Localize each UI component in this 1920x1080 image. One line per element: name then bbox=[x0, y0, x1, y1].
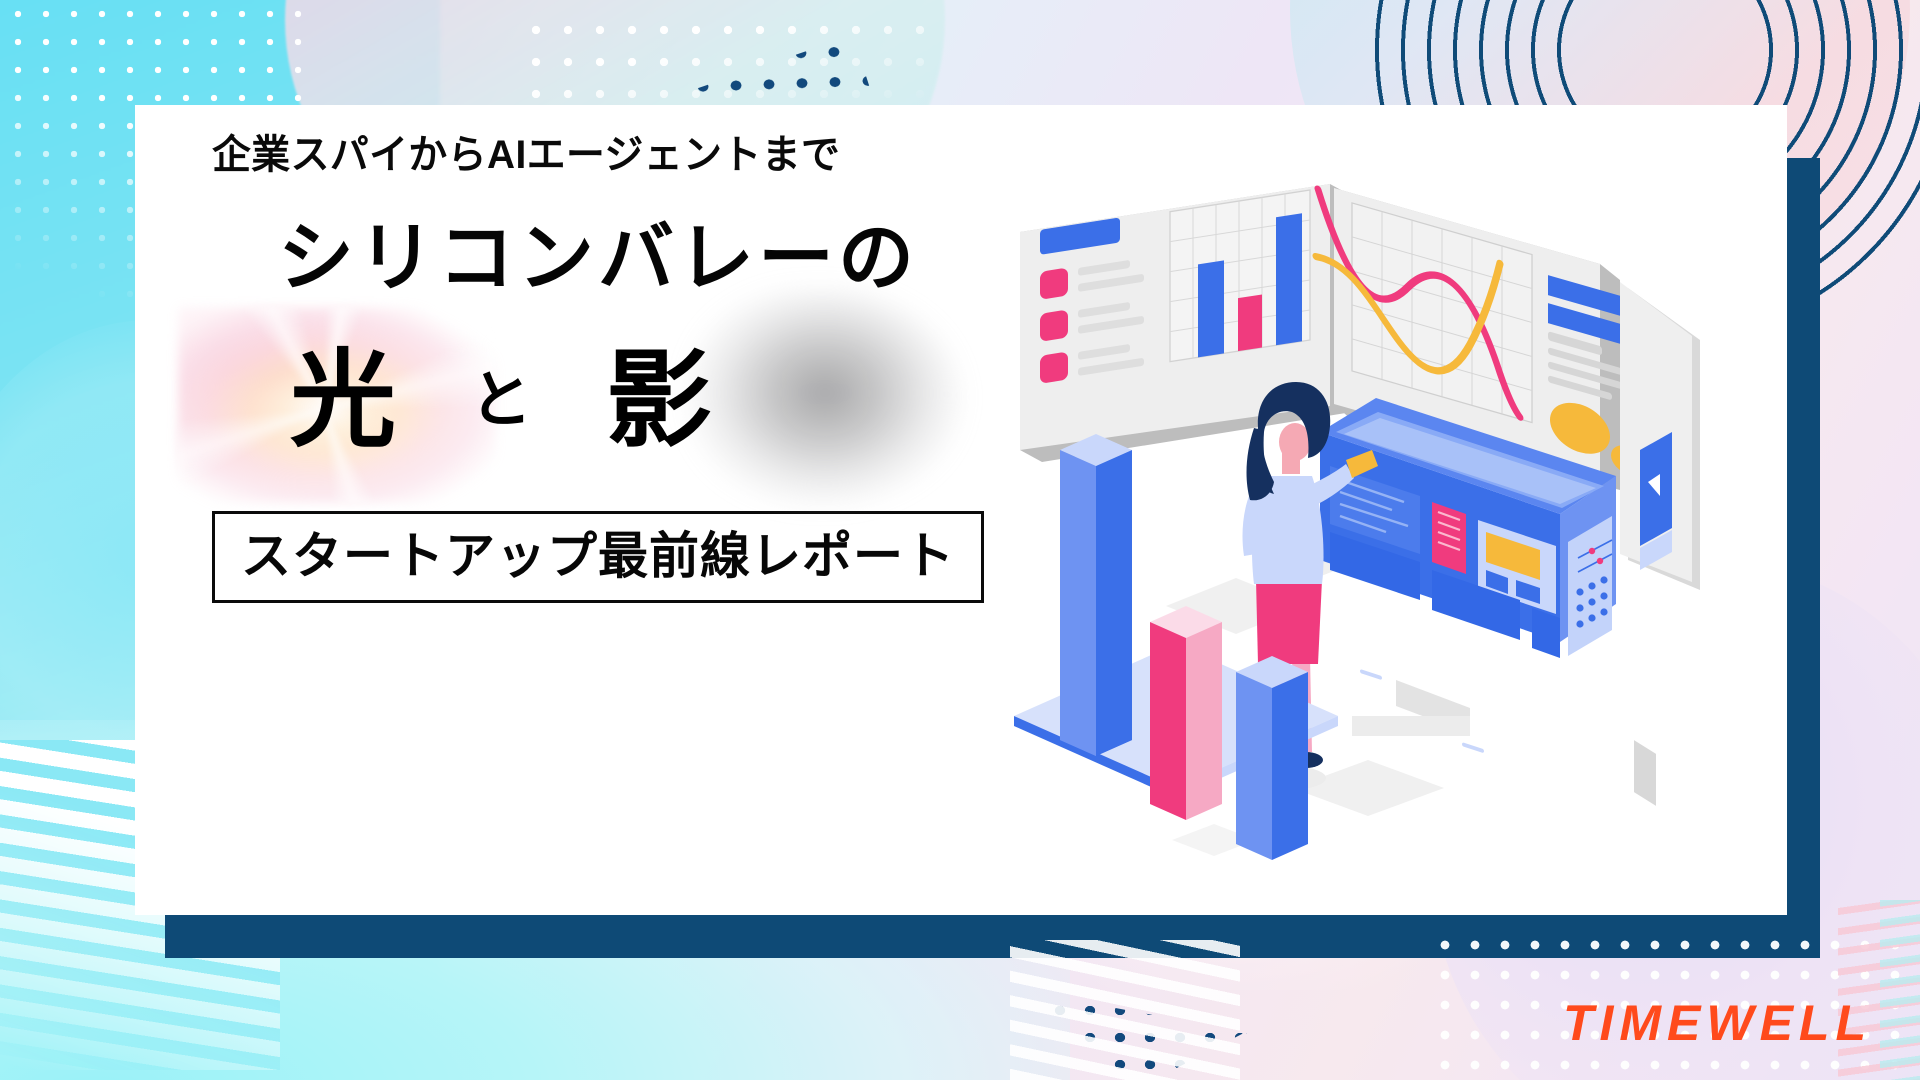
timewell-logo: TIMEWELL bbox=[1563, 998, 1872, 1048]
headline-text-block: 企業スパイからAIエージェントまで シリコンバレーの 光 と 影 スタートアップ… bbox=[212, 135, 982, 603]
dashboard-screen-right bbox=[1620, 282, 1700, 880]
kanji-conjunction: と bbox=[470, 370, 532, 432]
bar-b bbox=[1238, 294, 1262, 351]
diagonal-stripes-right-cyan bbox=[1880, 900, 1920, 1080]
kanji-light: 光 bbox=[290, 348, 396, 454]
iso-bar-3 bbox=[1236, 656, 1308, 860]
illustration-isometric-analytics bbox=[1000, 160, 1780, 880]
diagonal-stripes-bottom-center bbox=[1010, 940, 1240, 1080]
bar-a bbox=[1198, 260, 1224, 357]
light-and-shadow-row: 光 と 影 bbox=[212, 331, 982, 471]
iso-bar-1 bbox=[1060, 434, 1132, 756]
kicker-text: 企業スパイからAIエージェントまで bbox=[212, 135, 959, 175]
iso-bar-2 bbox=[1150, 606, 1222, 820]
kanji-shadow: 影 bbox=[606, 348, 712, 454]
tagline-text: スタートアップ最前線レポート bbox=[241, 531, 955, 581]
shadow-blur-effect bbox=[690, 291, 960, 503]
poster-canvas: 企業スパイからAIエージェントまで シリコンバレーの 光 と 影 スタートアップ… bbox=[0, 0, 1920, 1080]
tagline-box: スタートアップ最前線レポート bbox=[212, 511, 984, 603]
bar-c bbox=[1276, 213, 1302, 345]
page-title: シリコンバレーの bbox=[278, 221, 982, 297]
